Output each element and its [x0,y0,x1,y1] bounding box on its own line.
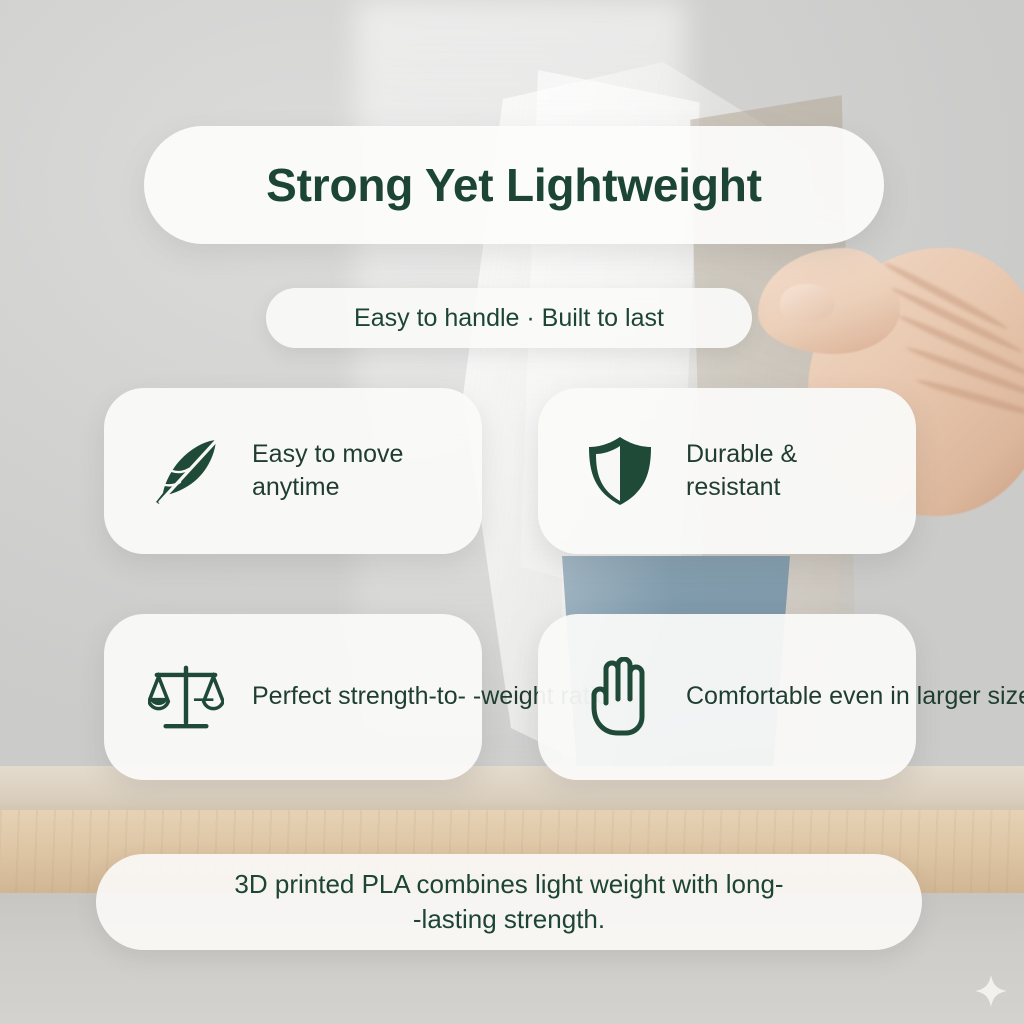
feature-label: Durable & resistant [686,438,797,505]
feature-label: Easy to move anytime [252,438,403,505]
feature-label: Comfortable even in larger sizes [686,680,1024,713]
feature-card-strength-ratio[interactable]: Perfect strength-to- -weight ratio [104,614,482,780]
scales-icon [148,659,224,735]
shield-icon [582,433,658,509]
footer-note: 3D printed PLA combines light weight wit… [234,867,783,936]
open-hand-icon [582,659,658,735]
promo-graphic: Strong Yet Lightweight Easy to handle · … [0,0,1024,1024]
feather-icon [148,433,224,509]
sparkle-icon [974,974,1008,1008]
feature-card-comfortable[interactable]: Comfortable even in larger sizes [538,614,916,780]
feature-card-easy-to-move[interactable]: Easy to move anytime [104,388,482,554]
feature-card-durable[interactable]: Durable & resistant [538,388,916,554]
footer-note-pill: 3D printed PLA combines light weight wit… [96,854,922,950]
